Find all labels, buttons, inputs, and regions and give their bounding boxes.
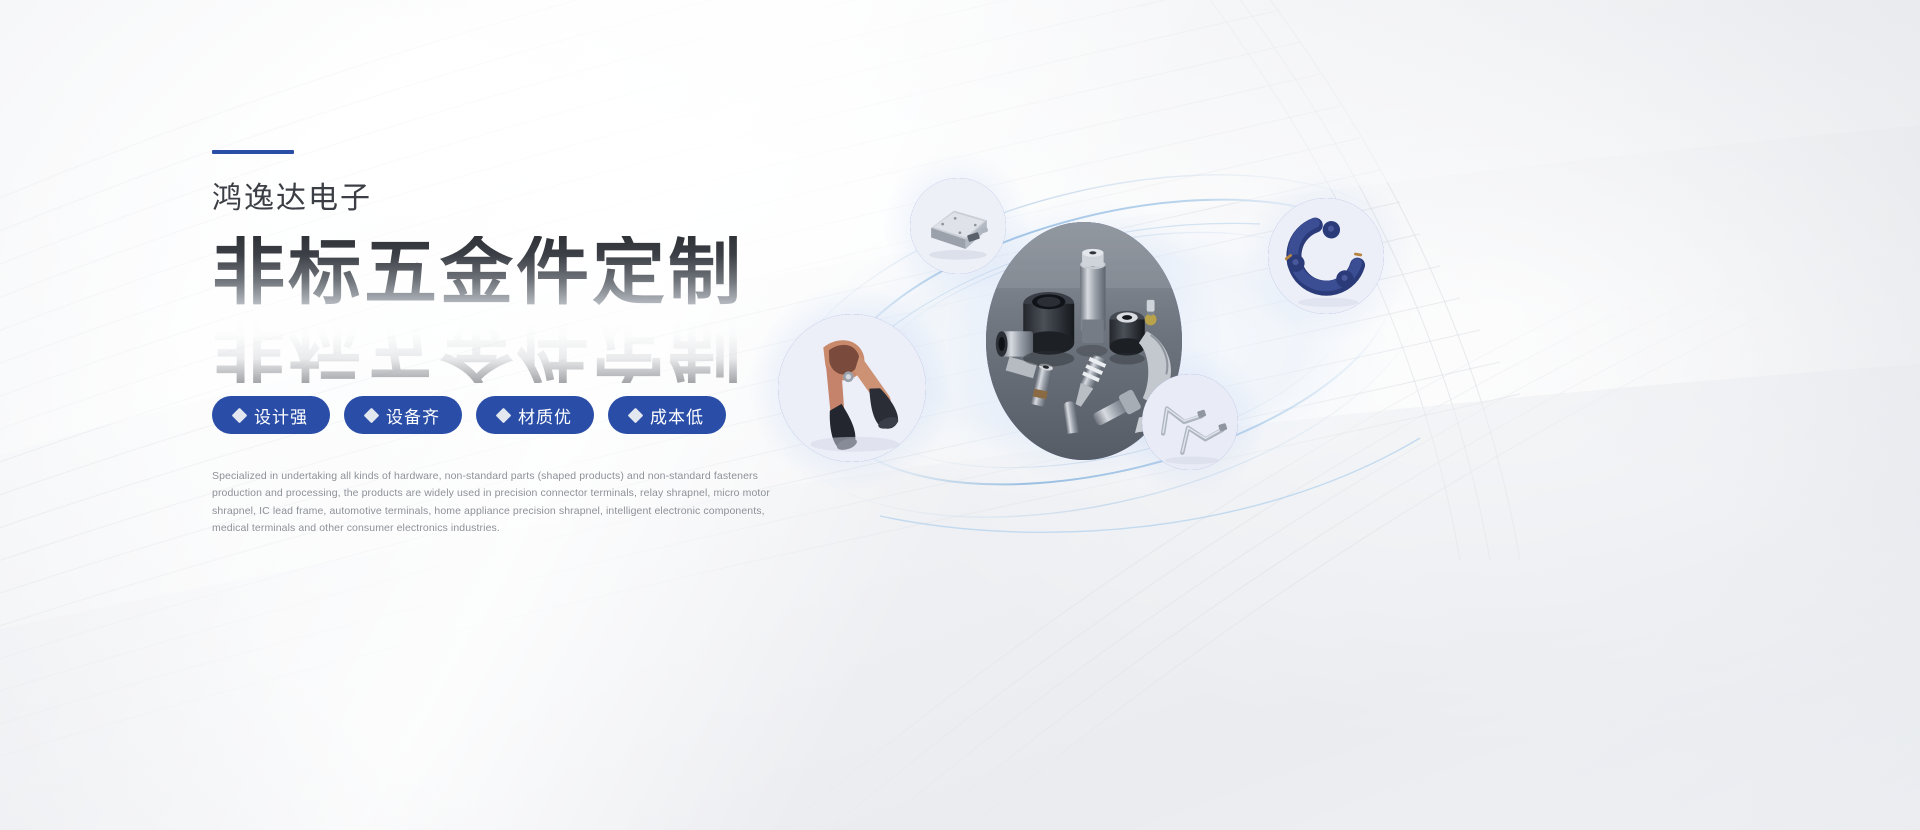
product-node-clamp[interactable]: [778, 314, 926, 462]
feature-badge-label: 设计强: [254, 403, 308, 428]
bent-metal-pins-photo: [1142, 374, 1238, 470]
description-paragraph: Specialized in undertaking all kinds of …: [212, 468, 682, 537]
diamond-icon: [364, 407, 380, 423]
feature-badge-label: 设备齐: [386, 403, 440, 428]
feature-badge-material[interactable]: 材质优: [476, 396, 594, 434]
copper-battery-clamp-photo: [778, 314, 926, 462]
accent-bar: [212, 150, 294, 154]
product-node-pins[interactable]: [1142, 374, 1238, 470]
feature-badge-label: 材质优: [518, 403, 572, 428]
blue-c-retaining-ring-photo: [1268, 198, 1384, 314]
diamond-icon: [232, 407, 248, 423]
page-title: 非标五金件定制: [212, 236, 744, 309]
diamond-icon: [628, 407, 644, 423]
product-showcase: [740, 120, 1840, 590]
product-node-retaining-ring[interactable]: [1268, 198, 1384, 314]
headline-reflection: 非标五金件定制: [212, 310, 744, 383]
feature-badge-design[interactable]: 设计强: [212, 396, 330, 434]
description-line: medical terminals and other consumer ele…: [212, 520, 682, 537]
description-line: Specialized in undertaking all kinds of …: [212, 468, 682, 485]
description-line: shrapnel, IC lead frame, automotive term…: [212, 503, 682, 520]
hero-banner: 鸿逸达电子 非标五金件定制 非标五金件定制 设计强 设备齐 材质优 成本低: [0, 0, 1920, 830]
description-line: production and processing, the products …: [212, 485, 682, 502]
feature-badge-label: 成本低: [650, 403, 704, 428]
diamond-icon: [496, 407, 512, 423]
feature-badge-cost[interactable]: 成本低: [608, 396, 726, 434]
feature-badge-equipment[interactable]: 设备齐: [344, 396, 462, 434]
